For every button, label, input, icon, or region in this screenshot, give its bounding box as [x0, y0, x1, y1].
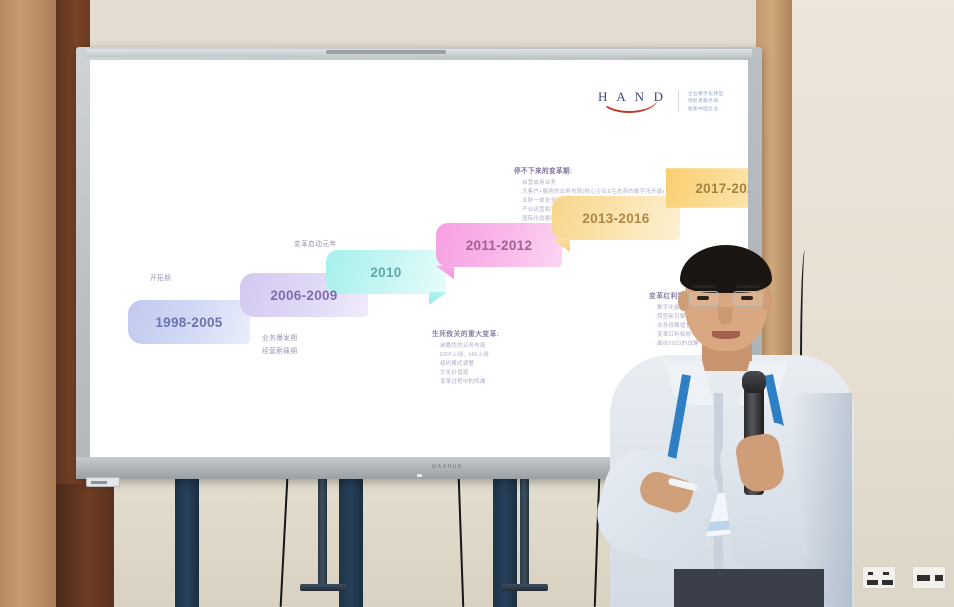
timeline-caption-business-boom: 业务爆发期 经营剧痛期 [262, 332, 297, 358]
logo-tagline-line-3: 赋能中国企业 [688, 106, 724, 112]
camera-bar-icon [326, 50, 446, 54]
timeline-label: 1998-2005 [155, 315, 222, 330]
presenter-nose [718, 307, 732, 325]
bullet-dash-icon: · [514, 197, 516, 206]
logo-tagline-line-1: 企业数字化转型 [688, 91, 724, 97]
bullet-dash-icon: · [432, 360, 434, 369]
logo-swoosh-icon [600, 98, 658, 113]
bullet-text: 文化价值观 [440, 369, 468, 378]
timeline-label: 2011-2012 [466, 238, 533, 253]
presenter-trousers [674, 569, 824, 607]
caption-text: 业务爆发期 经营剧痛期 [262, 335, 297, 355]
mid-text-block: 生死攸关的重大变革: ·前瞻性的业务布局 ·ERP上线、HR上线 ·组织模式调整… [432, 328, 612, 387]
wall-panel [363, 470, 493, 607]
bullet-text: 组织模式调整 [440, 360, 474, 369]
mid-block-item: ·ERP上线、HR上线 [432, 351, 612, 360]
bullet-text: 变革过程中的阵痛 [440, 378, 486, 387]
display-side-button[interactable] [86, 477, 120, 487]
bullet-text: ERP上线、HR上线 [440, 351, 489, 360]
power-outlet-right[interactable] [912, 566, 946, 589]
bullet-dash-icon: · [432, 351, 434, 360]
wall-above-display [56, 0, 756, 48]
bullet-dash-icon: · [432, 369, 434, 378]
timeline-caption-reform-start: 变革启动元年 [294, 238, 337, 248]
display-stand-leg [520, 479, 529, 587]
timeline-tail [429, 292, 447, 305]
logo-divider [678, 90, 679, 112]
display-stand-foot [502, 584, 548, 591]
presenter-eyebrow-right [736, 285, 760, 288]
bullet-dash-icon: · [514, 206, 516, 215]
logo-tagline-line-2: 领航者服务商 [688, 98, 724, 104]
timeline-step-2017-2023[interactable]: 2017-2023 [666, 162, 748, 214]
bullet-dash-icon: · [514, 179, 516, 188]
display-brand-label: MAXHUB [432, 464, 463, 470]
mid-block-title: 生死攸关的重大变革: [432, 328, 612, 338]
timeline-label: 2017-2023 [695, 181, 748, 196]
bullet-text: 自营自用业务 [522, 179, 556, 188]
presenter-eye-left [697, 296, 709, 300]
presenter-mouth [712, 331, 740, 339]
bullet-dash-icon: · [432, 342, 434, 351]
bullet-text: 前瞻性的业务布局 [440, 342, 486, 351]
bullet-dash-icon: · [514, 188, 516, 197]
timeline-step-2011-2012[interactable]: 2011-2012 [436, 223, 562, 267]
timeline-label: 2010 [370, 265, 401, 280]
display-stand-leg [318, 479, 327, 587]
presenter [596, 243, 864, 607]
timeline-step-1998-2005[interactable]: 1998-2005 [128, 300, 250, 344]
mid-block-item: ·变革过程中的阵痛 [432, 378, 612, 387]
bullet-dash-icon: · [432, 378, 434, 387]
mid-block-item: ·前瞻性的业务布局 [432, 342, 612, 351]
timeline-step-2010[interactable]: 2010 [326, 250, 446, 294]
timeline-label: 2013-2016 [582, 211, 649, 226]
timeline-step-2013-2016[interactable]: 2013-2016 [552, 196, 680, 240]
company-logo: H A N D 企业数字化转型 领航者服务商 赋能中国企业 [595, 87, 724, 115]
wood-column-left [0, 0, 56, 607]
presenter-eyebrow-left [692, 285, 716, 288]
mid-block-item: ·组织模式调整 [432, 360, 612, 369]
power-outlet-left[interactable] [862, 566, 896, 589]
button-indicator-icon [91, 481, 107, 484]
display-stand-foot [300, 584, 346, 591]
timeline-caption-pioneering: 开拓期 [150, 272, 171, 282]
presenter-eye-right [741, 296, 753, 300]
wall-post-navy [175, 470, 199, 607]
logo-tagline: 企业数字化转型 领航者服务商 赋能中国企业 [688, 91, 724, 112]
timeline-label: 2006-2009 [270, 288, 337, 303]
mid-block-item: ·文化价值观 [432, 369, 612, 378]
ir-sensor-icon [417, 474, 422, 477]
wood-panel-lower-left [56, 484, 114, 607]
microphone-head-icon [742, 371, 766, 393]
hand-logo-icon: H A N D [595, 87, 669, 115]
